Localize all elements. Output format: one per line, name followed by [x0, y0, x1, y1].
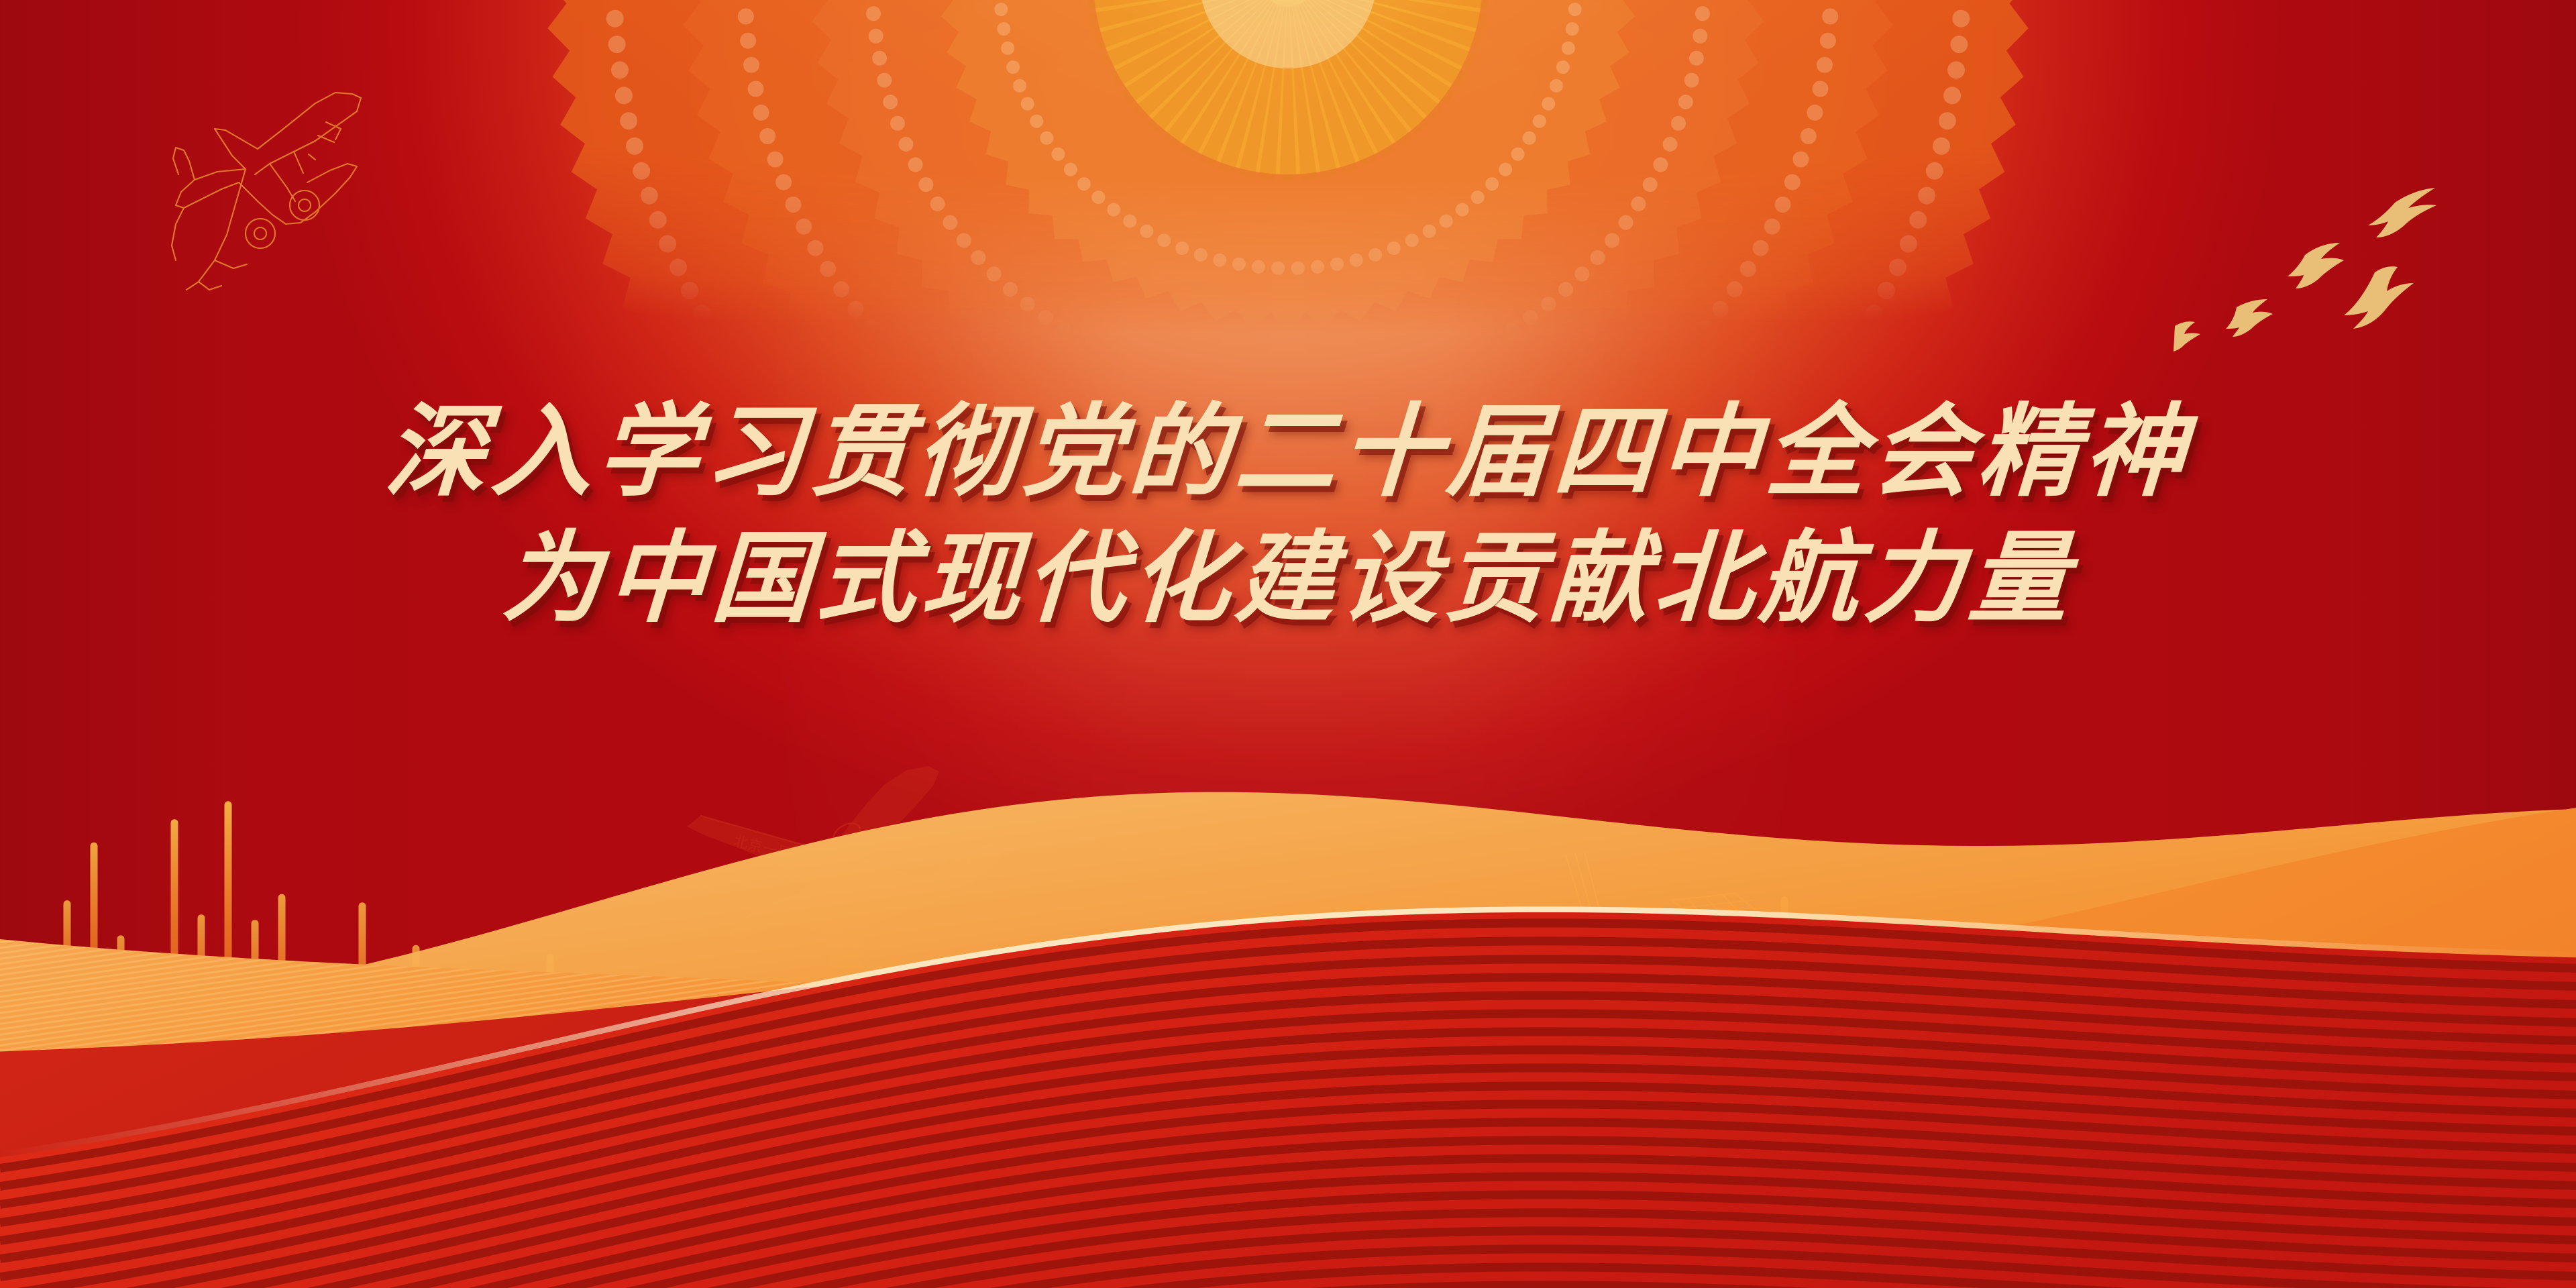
headline-line-1: 深入学习贯彻党的二十届四中全会精神 [0, 402, 2576, 503]
fighter-jet-lineart-icon [114, 80, 369, 295]
layered-wave-mountains [0, 698, 2576, 1288]
page-title: 深入学习贯彻党的二十届四中全会精神 为中国式现代化建设贡献北航力量 [0, 402, 2576, 629]
poster-canvas: 深入学习贯彻党的二十届四中全会精神 为中国式现代化建设贡献北航力量 北京一号 [0, 0, 2576, 1288]
flying-birds-icon [2173, 168, 2529, 382]
headline-line-2: 为中国式现代化建设贡献北航力量 [0, 530, 2576, 629]
